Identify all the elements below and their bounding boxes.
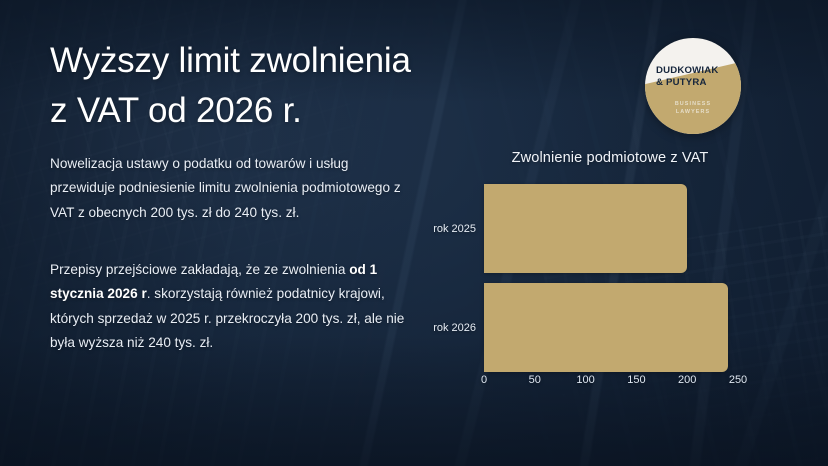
x-axis-tick-label: 200 — [678, 374, 696, 386]
company-logo: DUDKOWIAK & PUTYRA BUSINESS LAWYERS — [645, 38, 741, 134]
slide-content: Wyższy limit zwolnienia z VAT od 2026 r.… — [0, 0, 828, 466]
x-axis-tick-label: 100 — [576, 374, 594, 386]
chart-title: Zwolnienie podmiotowe z VAT — [430, 150, 790, 166]
logo-tagline: BUSINESS LAWYERS — [645, 100, 741, 117]
bar-row: rok 2025 — [484, 184, 738, 273]
logo-company-name: DUDKOWIAK & PUTYRA — [656, 65, 734, 89]
body-paragraph-2: Przepisy przejściowe zakładają, że ze zw… — [50, 258, 410, 355]
bar-chart: rok 2025 rok 2026 050100150200250 — [424, 180, 796, 390]
body-paragraph-2-lead: Przepisy przejściowe zakładają, że ze zw… — [50, 262, 349, 277]
bar-rok-2025 — [484, 184, 687, 273]
x-axis-tick-label: 0 — [481, 374, 487, 386]
chart-x-axis: 050100150200250 — [484, 372, 738, 392]
slide-headline: Wyższy limit zwolnienia z VAT od 2026 r. — [50, 36, 520, 135]
bar-row: rok 2026 — [484, 283, 738, 372]
x-axis-tick-label: 50 — [529, 374, 541, 386]
chart-plot-area: rok 2025 rok 2026 — [484, 180, 738, 372]
bar-category-label: rok 2026 — [433, 322, 476, 334]
bar-rok-2026 — [484, 283, 728, 372]
bar-category-label: rok 2025 — [433, 223, 476, 235]
body-paragraph-1: Nowelizacja ustawy o podatku od towarów … — [50, 152, 410, 225]
presentation-slide: Wyższy limit zwolnienia z VAT od 2026 r.… — [0, 0, 828, 466]
x-axis-tick-label: 250 — [729, 374, 747, 386]
x-axis-tick-label: 150 — [627, 374, 645, 386]
